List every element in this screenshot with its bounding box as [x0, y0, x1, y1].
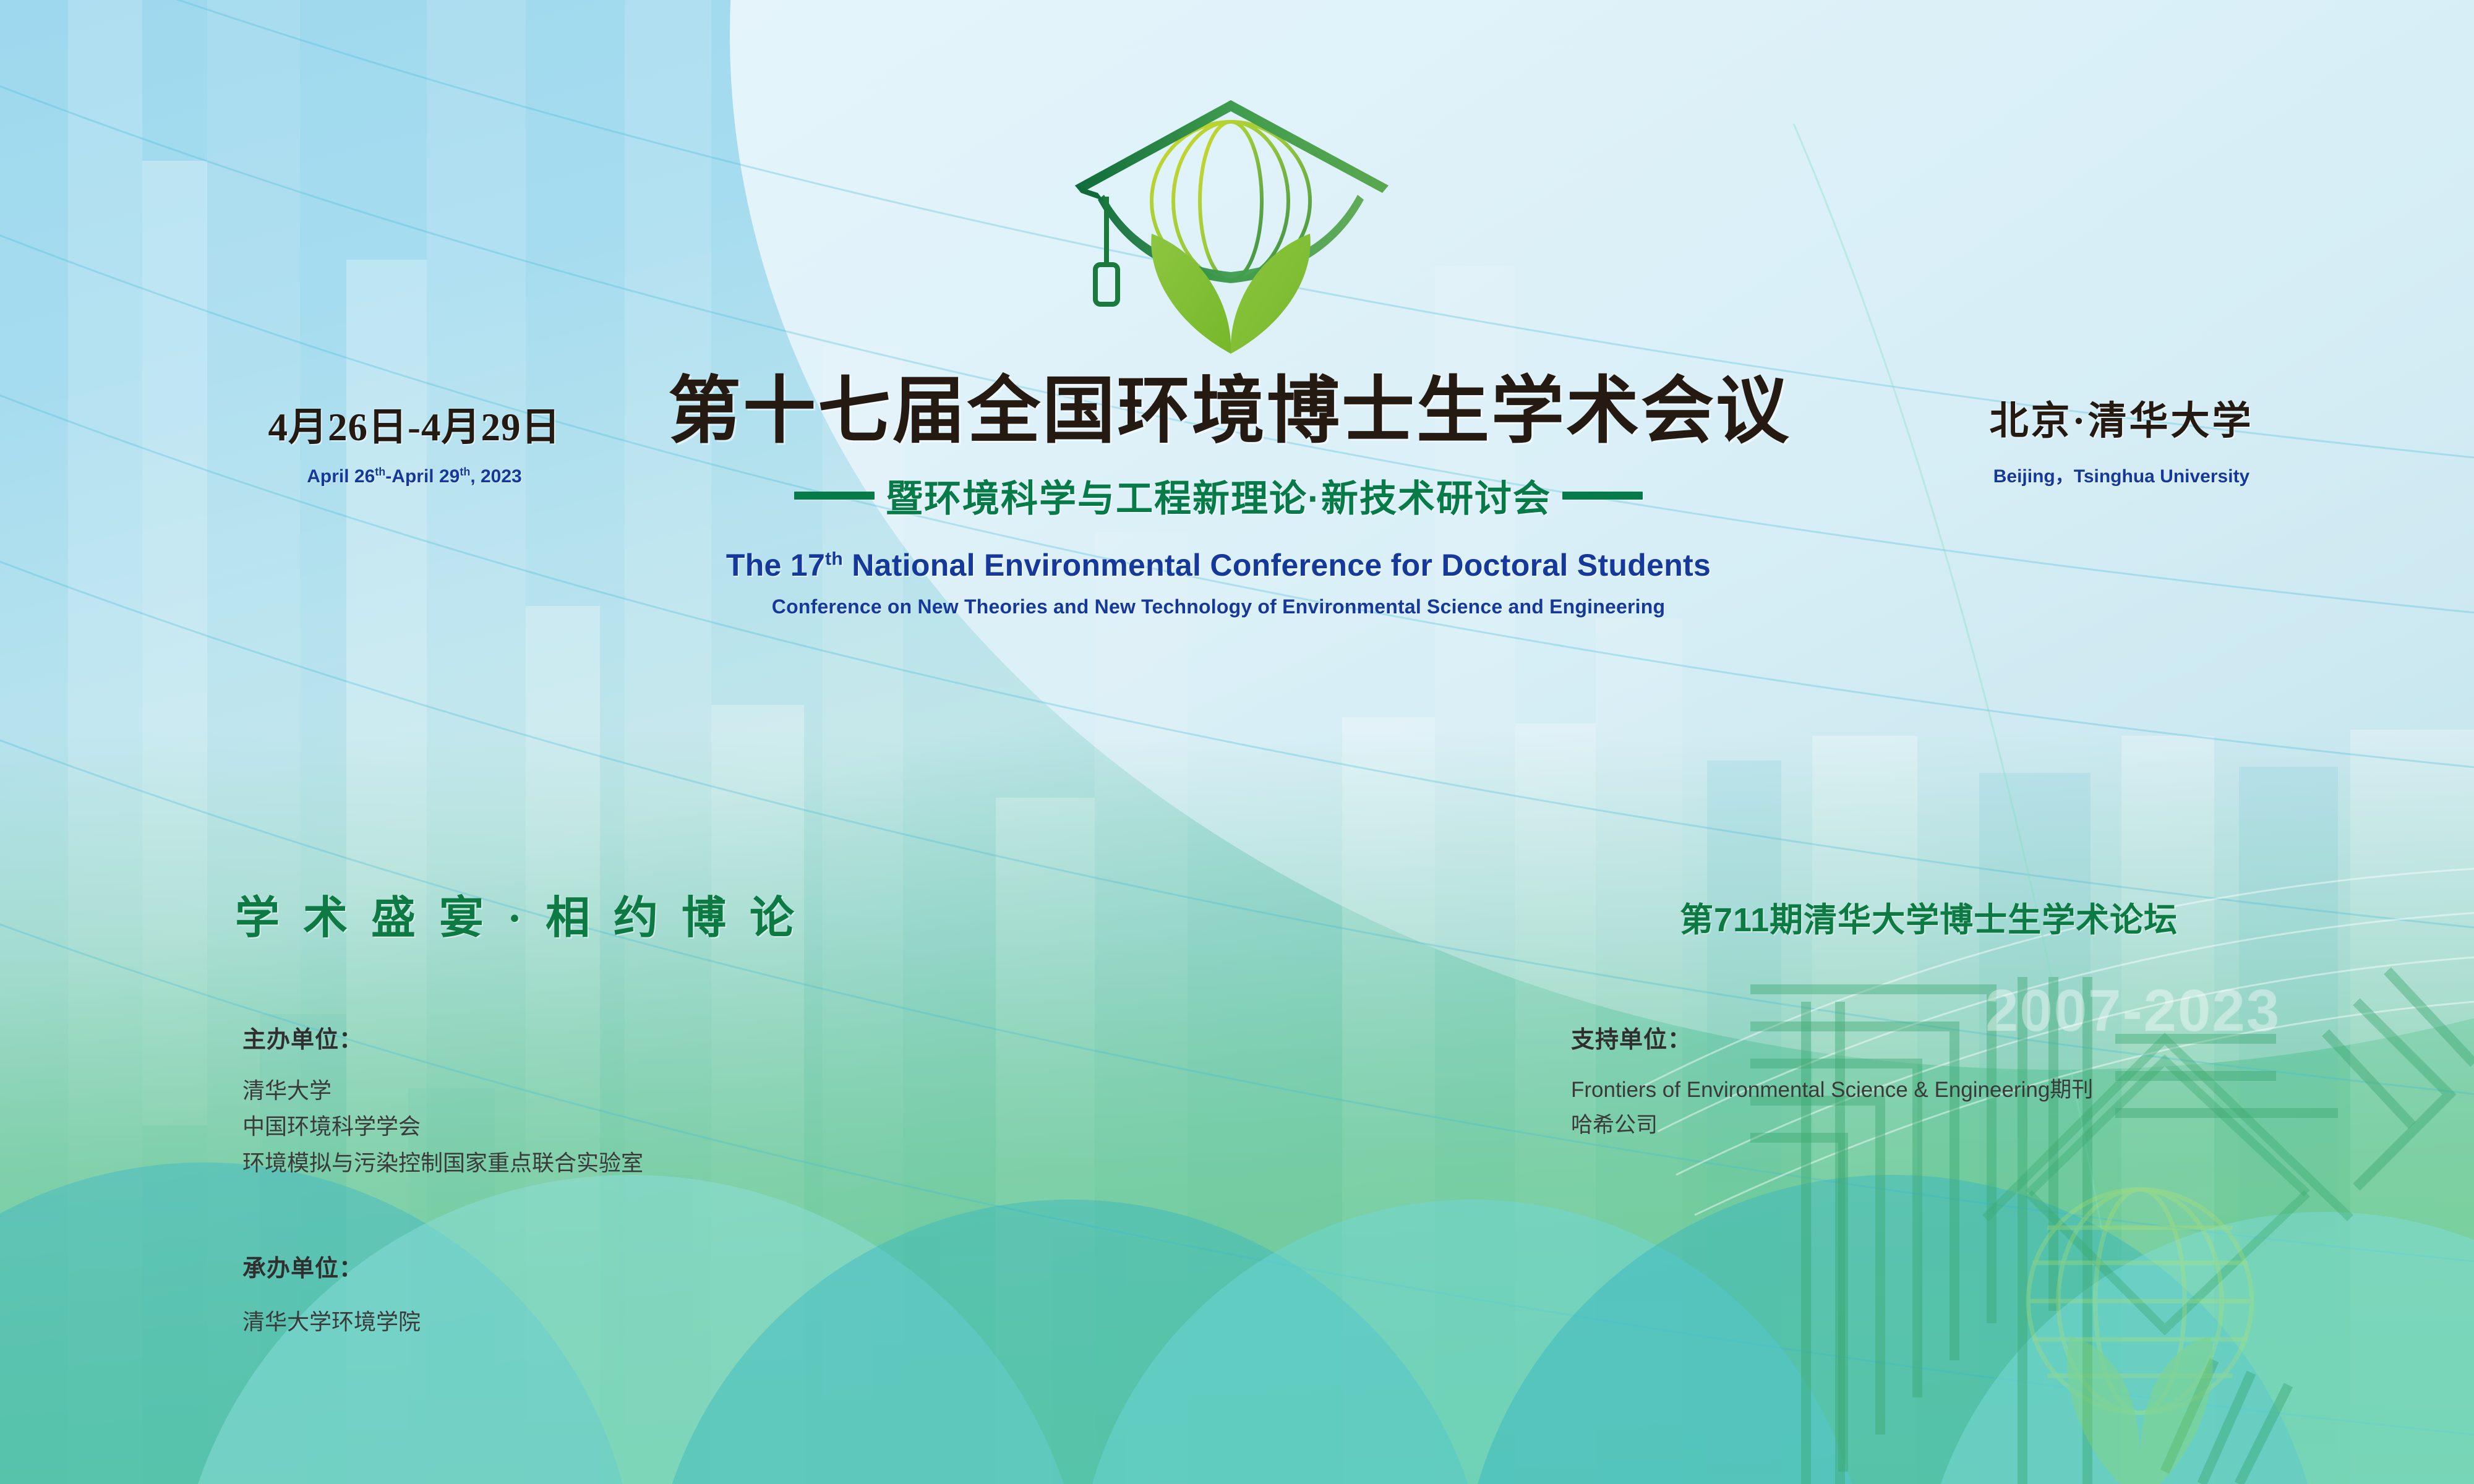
list-item: 哈希公司: [1571, 1108, 2093, 1143]
list-item: 中国环境科学学会: [242, 1109, 643, 1145]
rule-left-icon: [794, 492, 875, 500]
date-en-suffix: , 2023: [470, 466, 521, 487]
host-organizations: 主办单位： 清华大学 中国环境科学学会 环境模拟与污染控制国家重点联合实验室: [242, 1020, 643, 1181]
title-english-line1: The 17th National Environmental Conferen…: [668, 547, 1769, 583]
host-heading: 主办单位：: [242, 1020, 643, 1054]
list-item: Frontiers of Environmental Science & Eng…: [1571, 1073, 2093, 1108]
list-item: 环境模拟与污染控制国家重点联合实验室: [242, 1145, 643, 1181]
date-en-sup1: th: [375, 466, 385, 478]
organizer-list: 清华大学环境学院: [242, 1304, 421, 1340]
subtitle-chinese: 暨环境科学与工程新理论·新技术研讨会: [886, 469, 1551, 522]
date-en-prefix: April 26: [307, 466, 375, 487]
slogan-text: 学术盛宴·相约博论: [235, 881, 818, 946]
date-english: April 26th-April 29th, 2023: [241, 466, 588, 487]
date-block: 4月26日-4月29日 April 26th-April 29th, 2023: [241, 396, 588, 487]
title-en1-a: The 17: [726, 548, 825, 582]
poster-content: 4月26日-4月29日 April 26th-April 29th, 2023 …: [0, 0, 2474, 1484]
date-en-mid: -April 29: [385, 466, 460, 487]
date-chinese: 4月26日-4月29日: [241, 396, 588, 452]
conference-poster: 2007-2023: [0, 0, 2474, 1484]
title-en1-b: National Environmental Conference for Do…: [843, 548, 1711, 582]
list-item: 清华大学环境学院: [242, 1304, 421, 1340]
support-list: Frontiers of Environmental Science & Eng…: [1571, 1073, 2093, 1143]
conference-logo-icon: [1039, 87, 1423, 365]
place-english: Beijing，Tsinghua University: [1893, 461, 2350, 488]
place-chinese: 北京·清华大学: [1893, 390, 2350, 446]
organizer-organizations: 承办单位： 清华大学环境学院: [242, 1249, 421, 1340]
title-english-line2: Conference on New Theories and New Techn…: [668, 595, 1769, 618]
subtitle-row: 暨环境科学与工程新理论·新技术研讨会: [668, 469, 1769, 522]
date-en-sup2: th: [460, 466, 470, 478]
support-organizations: 支持单位： Frontiers of Environmental Science…: [1571, 1020, 2093, 1143]
rule-right-icon: [1562, 492, 1643, 500]
host-list: 清华大学 中国环境科学学会 环境模拟与污染控制国家重点联合实验室: [242, 1073, 643, 1181]
list-item: 清华大学: [242, 1073, 643, 1109]
title-en1-sup: th: [825, 549, 843, 569]
organizer-heading: 承办单位：: [242, 1249, 421, 1283]
place-block: 北京·清华大学 Beijing，Tsinghua University: [1893, 390, 2350, 488]
page-title: 第十七届全国环境博士生学术会议: [668, 371, 1769, 453]
forum-label: 第711期清华大学博士生学术论坛: [1680, 892, 2178, 941]
support-heading: 支持单位：: [1571, 1020, 2093, 1054]
title-block: 第十七届全国环境博士生学术会议 暨环境科学与工程新理论·新技术研讨会 The 1…: [668, 371, 1769, 618]
